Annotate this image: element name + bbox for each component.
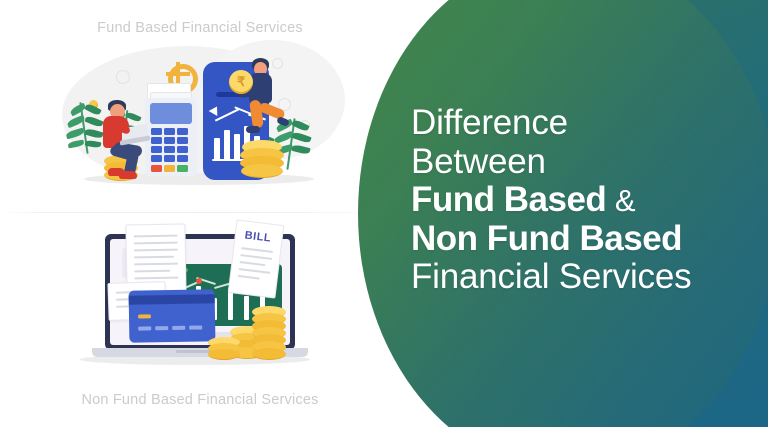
headline-line-2: Between bbox=[411, 143, 761, 182]
headline-line-1: Difference bbox=[411, 104, 761, 143]
headline-line-3-bold: Fund Based bbox=[411, 180, 606, 219]
headline-line-3: Fund Based & bbox=[411, 181, 761, 220]
headline-line-5: Financial Services bbox=[411, 258, 761, 297]
headline-line-4: Non Fund Based bbox=[411, 220, 761, 259]
ampersand: & bbox=[606, 183, 635, 218]
infographic-canvas: Fund Based Financial Services bbox=[0, 0, 768, 427]
headline: Difference Between Fund Based & Non Fund… bbox=[411, 104, 761, 297]
